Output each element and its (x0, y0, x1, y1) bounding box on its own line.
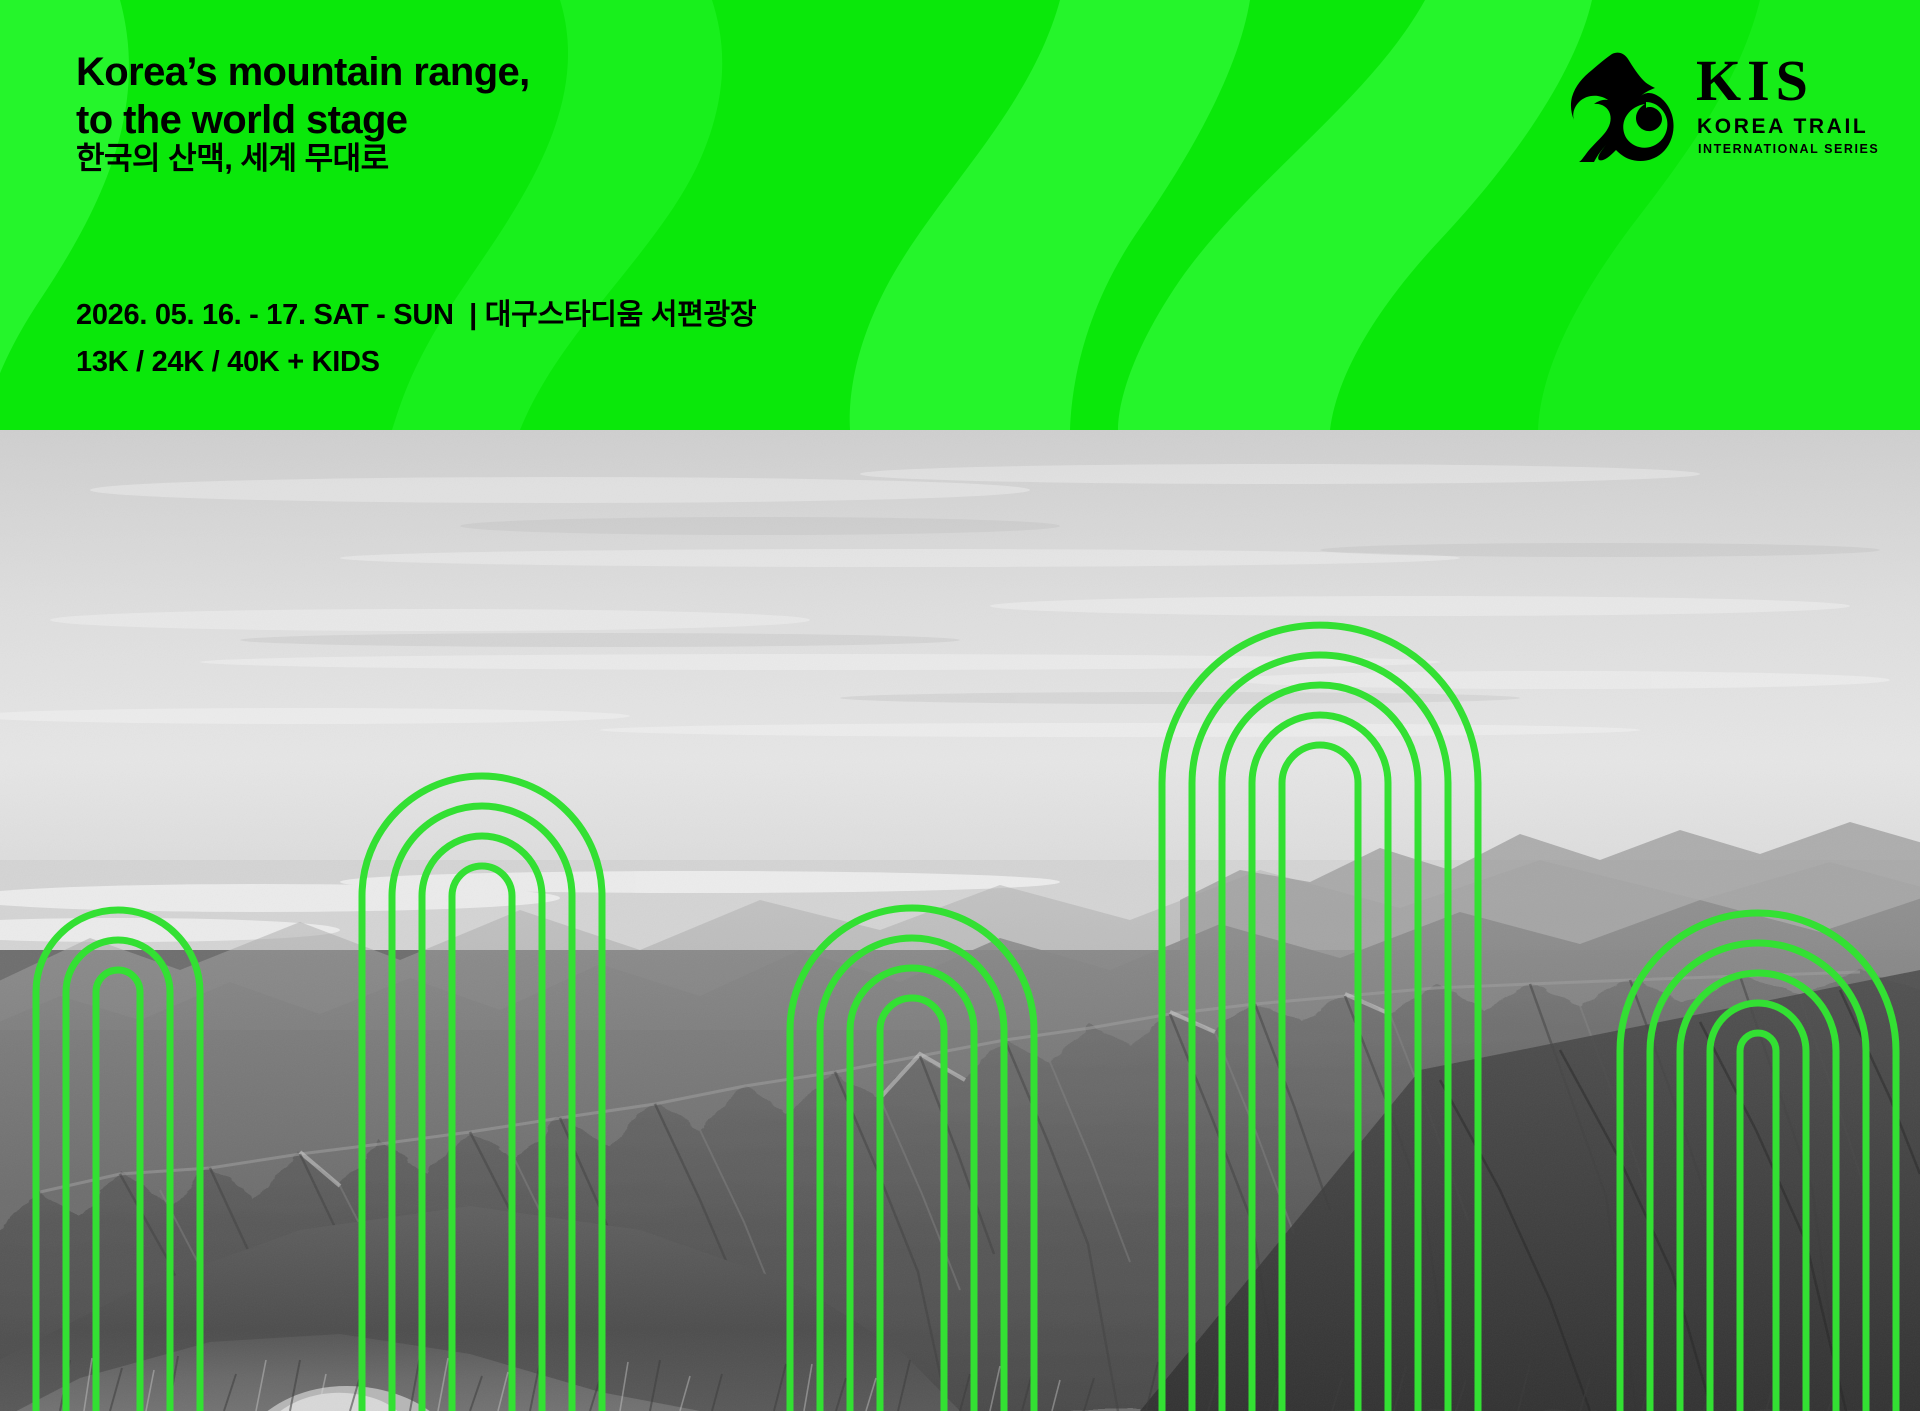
kis-logo: KIS KOREA TRAIL INTERNATIONAL SERIES (1568, 50, 1868, 165)
poster-header: Korea’s mountain range, to the world sta… (0, 0, 1920, 430)
header-text-block: Korea’s mountain range, to the world sta… (0, 0, 1920, 430)
kis-mountain-trail-mark-icon (1568, 50, 1686, 162)
event-date-and-venue: 2026. 05. 16. - 17. SAT - SUN | 대구스타디움 서… (76, 297, 756, 333)
mountain-photo-illustration (0, 430, 1920, 1411)
logo-subtitle-korea-trail: KOREA TRAIL (1697, 116, 1868, 138)
headline-line-1: Korea’s mountain range, (76, 48, 530, 96)
kis-logo-wordmark: KIS KOREA TRAIL INTERNATIONAL SERIES (1696, 52, 1868, 164)
event-poster: Korea’s mountain range, to the world sta… (0, 0, 1920, 1411)
logo-title-kis: KIS (1696, 52, 1814, 110)
logo-tagline-international-series: INTERNATIONAL SERIES (1698, 142, 1879, 156)
mountain-photo (0, 430, 1920, 1411)
headline-line-2: to the world stage (76, 96, 407, 144)
headline-korean: 한국의 산맥, 세계 무대로 (76, 140, 389, 178)
event-distances: 13K / 24K / 40K + KIDS (76, 344, 380, 380)
